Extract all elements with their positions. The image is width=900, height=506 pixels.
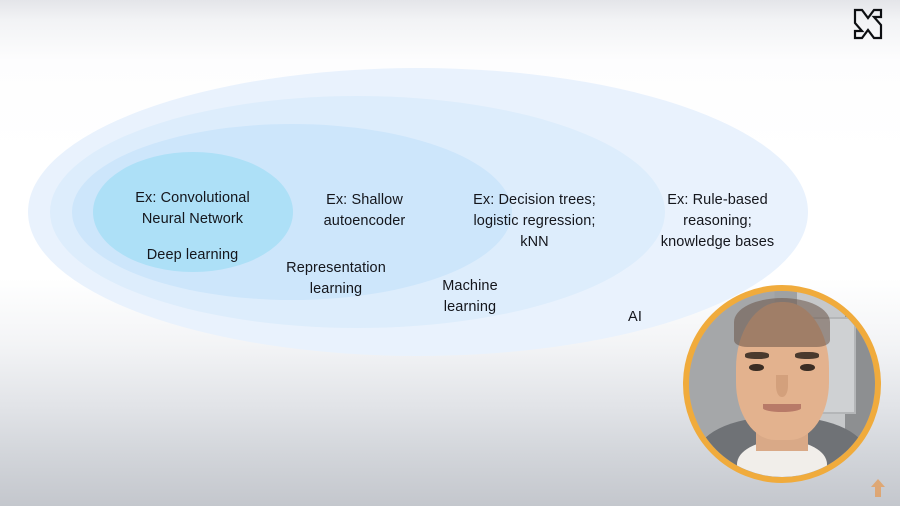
label-machine-learning: Machine learning [400,276,540,318]
webcam-eye-right [800,364,815,372]
label-deep-learning-example: Ex: Convolutional Neural Network [105,188,280,230]
webcam-hair [734,298,831,346]
x-logo-icon [850,6,886,42]
label-ai: AI [600,307,670,328]
label-representation-learning-example: Ex: Shallow autoencoder [282,190,447,232]
label-ai-example: Ex: Rule-based reasoning; knowledge base… [625,190,810,253]
label-deep-learning: Deep learning [105,245,280,266]
presenter-webcam[interactable] [683,285,881,483]
slide-canvas: Ex: Convolutional Neural Network Deep le… [0,0,900,506]
webcam-eyebrow-left [745,352,769,358]
webcam-eyebrow-right [795,352,819,358]
label-machine-learning-example: Ex: Decision trees; logistic regression;… [442,190,627,253]
webcam-mouth [763,404,800,411]
webcam-nose [776,375,787,397]
up-arrow-cursor-icon [870,478,886,498]
label-representation-learning: Representation learning [256,258,416,300]
